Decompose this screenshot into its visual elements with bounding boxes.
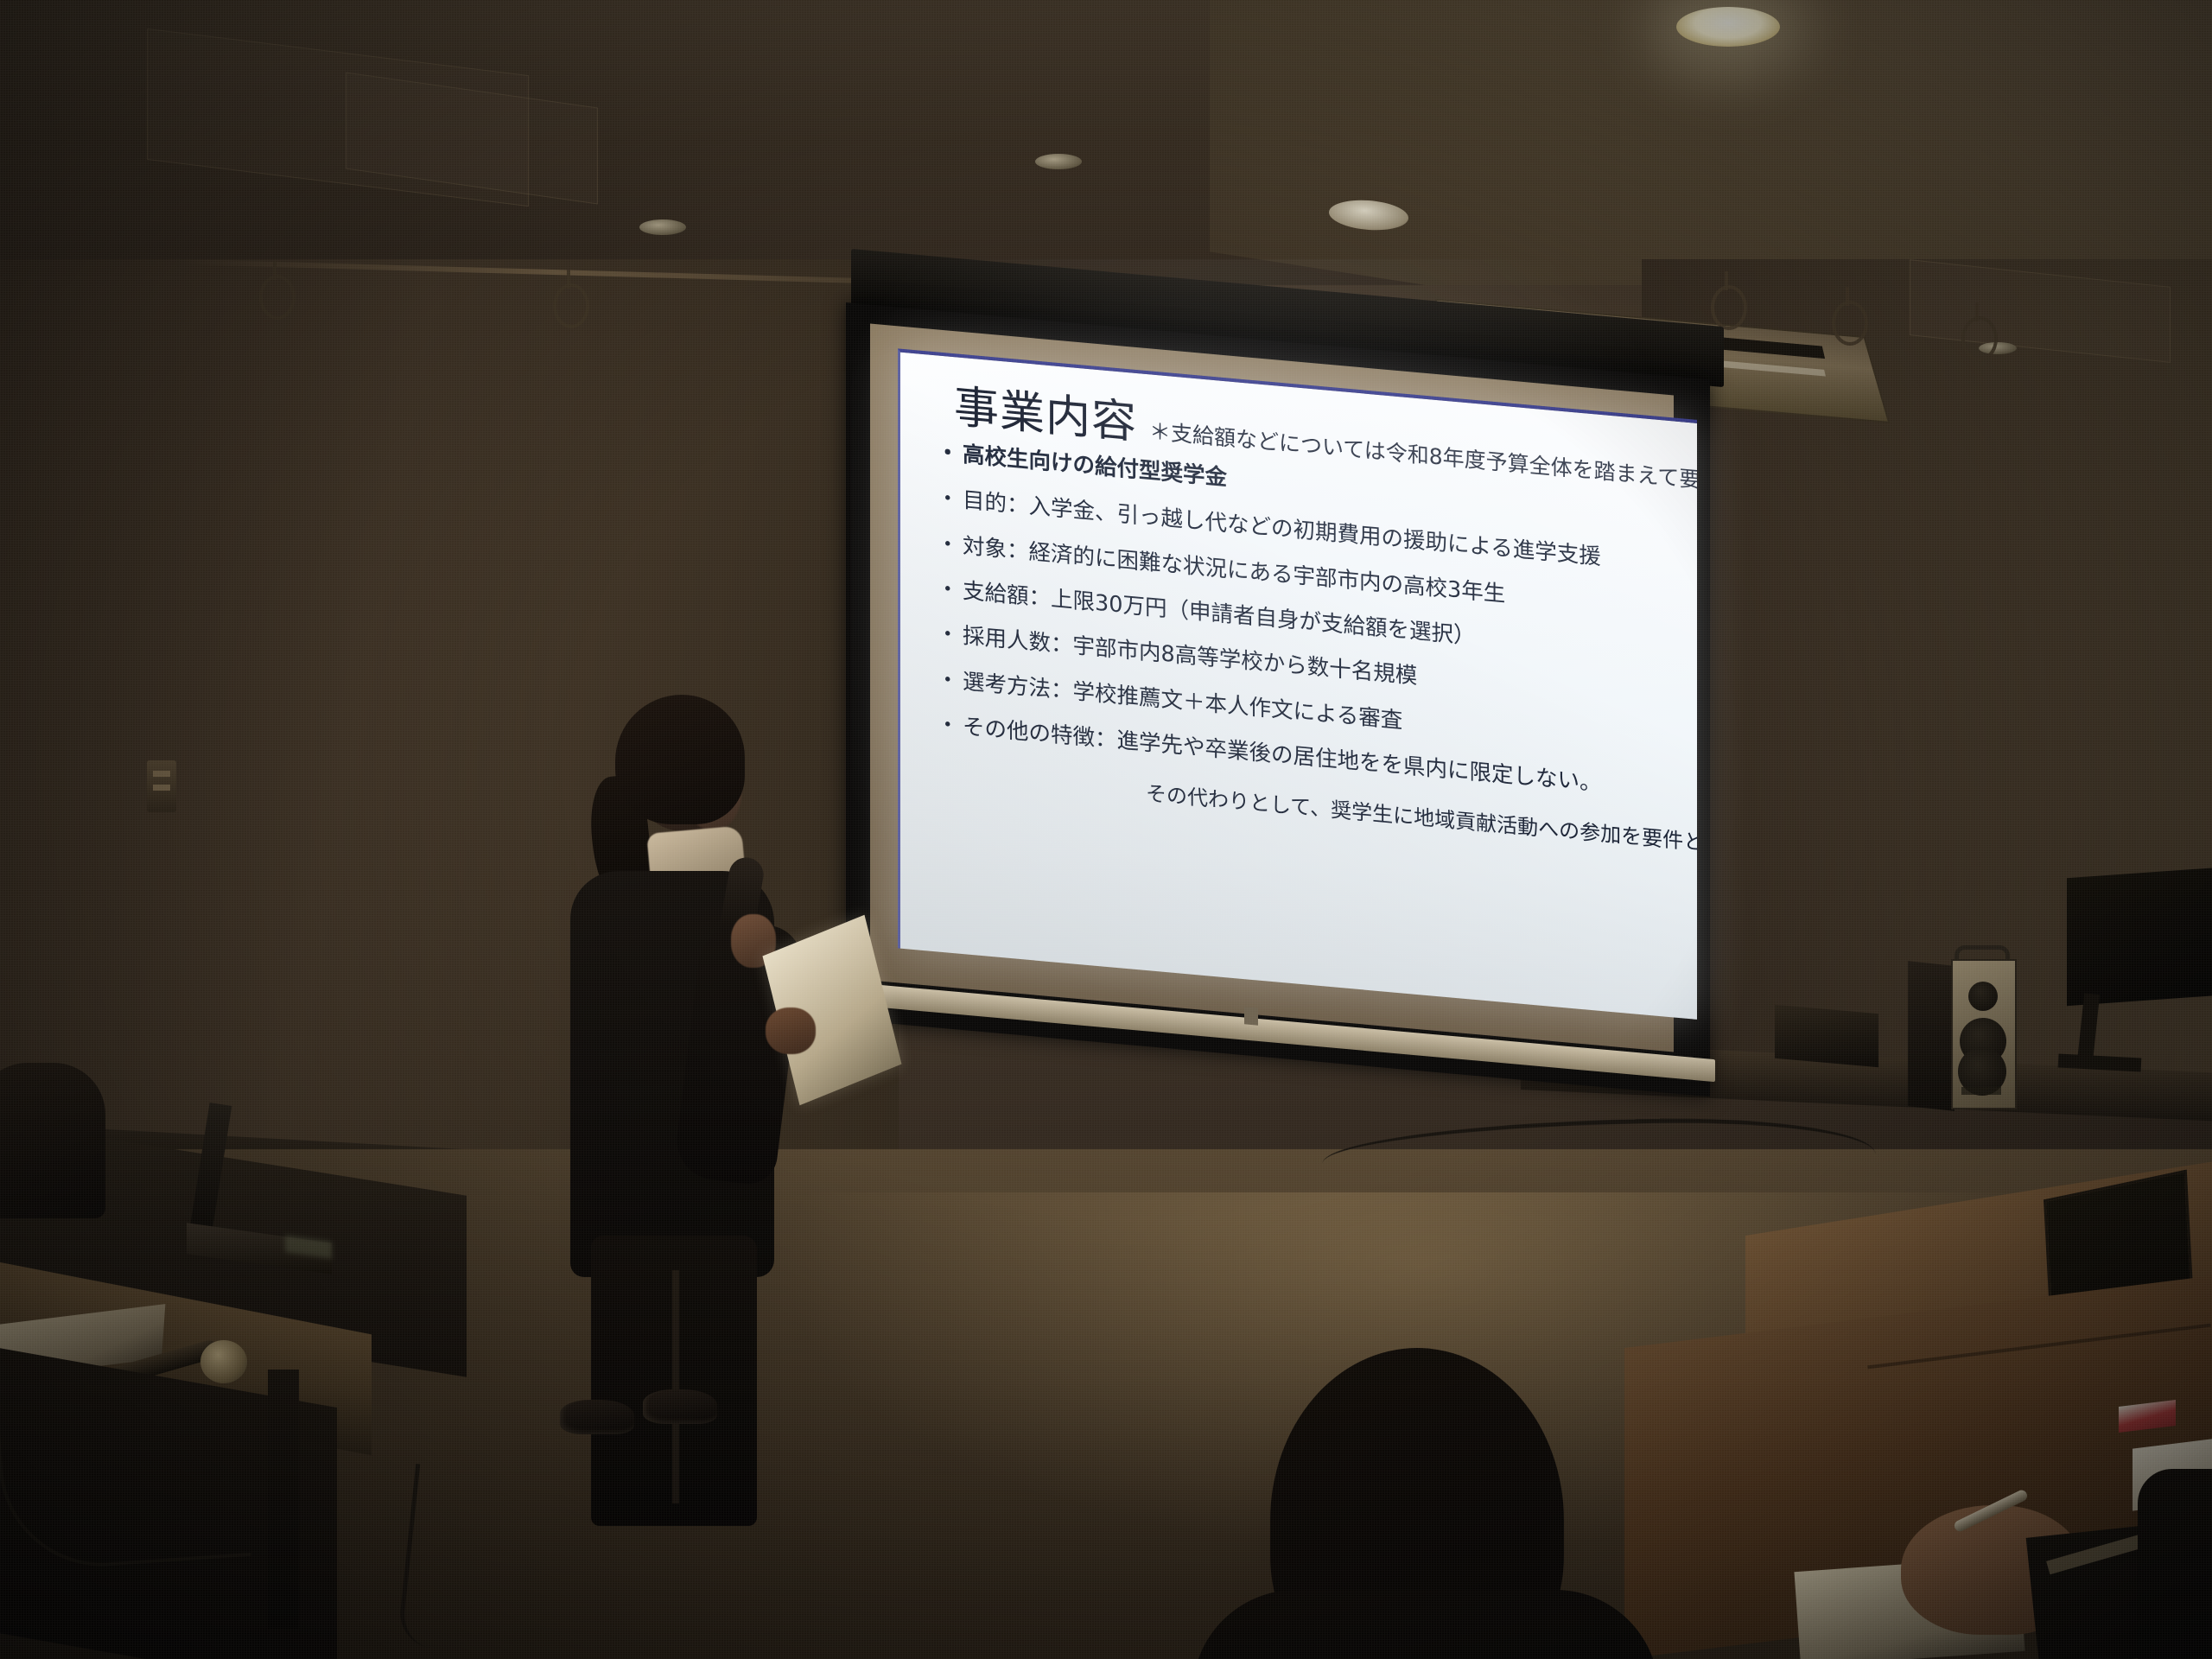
wall-hook-icon — [259, 275, 296, 320]
wall-hook-icon — [1711, 285, 1747, 330]
wall-hook-icon — [553, 283, 589, 328]
pa-speaker-side — [1908, 961, 1955, 1111]
table-microphone-icon — [200, 1340, 247, 1383]
ceiling-downlight-icon — [1676, 7, 1780, 47]
projected-slide: 事業内容 ＊支給額などについては令和8年度予算全体を踏まえて要協議 高校生向けの… — [898, 348, 1697, 1020]
presenter-shoe-left — [560, 1400, 634, 1434]
equipment-cart — [1775, 1005, 1878, 1067]
slide-bullet-list: 高校生向けの給付型奨学金 目的：入学金、引っ越し代などの初期費用の援助による進学… — [930, 440, 1675, 804]
screen-surface: 事業内容 ＊支給額などについては令和8年度予算全体を踏まえて要協議 高校生向けの… — [870, 323, 1674, 1052]
projection-screen: 事業内容 ＊支給額などについては令和8年度予算全体を踏まえて要協議 高校生向けの… — [851, 259, 1715, 1020]
screen-pull-handle-icon[interactable] — [1244, 1007, 1258, 1025]
pa-speaker-tweeter-icon — [1968, 982, 1998, 1011]
floor-cable — [397, 1464, 523, 1656]
presenter-hair — [615, 695, 745, 824]
smoke-detector-icon — [1035, 154, 1082, 169]
flat-monitor — [2067, 868, 2212, 1006]
presenter-leg-gap — [672, 1270, 679, 1503]
presentation-room-photo: 事業内容 ＊支給額などについては令和8年度予算全体を踏まえて要協議 高校生向けの… — [0, 0, 2212, 1659]
wall-outlet-plate-icon — [147, 760, 176, 812]
presenter-hand-paper — [766, 1007, 816, 1054]
wall-hook-icon — [1961, 316, 1998, 361]
slide-title: 事業内容 — [954, 385, 1137, 446]
operator-chair — [0, 1063, 105, 1218]
wall-hook-icon — [1832, 301, 1868, 346]
audience-arm — [2138, 1469, 2212, 1659]
pa-speaker-brand-label — [1961, 1087, 2001, 1095]
presenter — [518, 674, 881, 1452]
smoke-detector-icon — [639, 219, 686, 235]
desk-leg — [268, 1370, 299, 1629]
audience-member-shoulders — [1192, 1590, 1659, 1659]
screen-frame: 事業内容 ＊支給額などについては令和8年度予算全体を踏まえて要協議 高校生向けの… — [846, 302, 1710, 1096]
presenter-shoe-right — [643, 1389, 717, 1424]
